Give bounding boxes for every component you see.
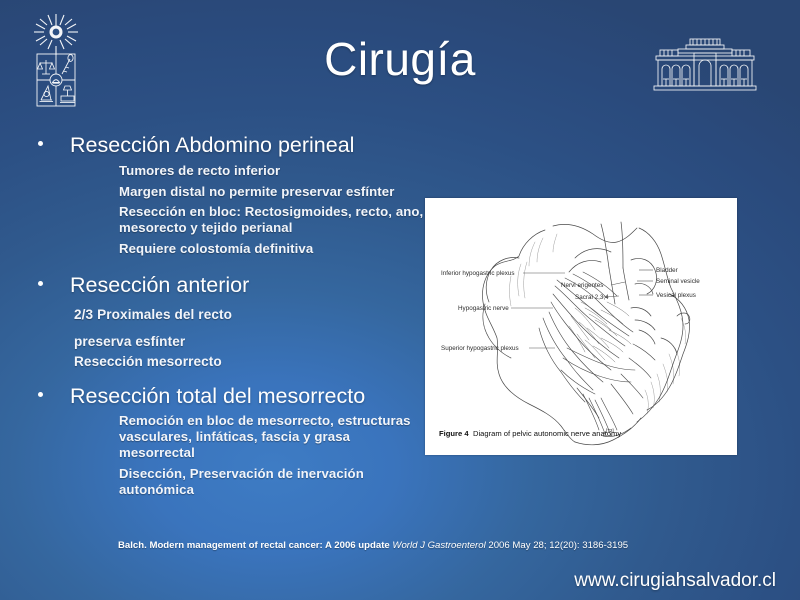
figure-caption-label: Figure 4 bbox=[439, 429, 469, 438]
citation: Balch. Modern management of rectal cance… bbox=[118, 540, 758, 552]
figure-caption-period: . bbox=[616, 429, 618, 438]
spacer bbox=[26, 375, 426, 384]
figure-caption-text: Diagram of pelvic autonomic nerve anatom… bbox=[473, 429, 621, 438]
citation-journal: World J Gastroenterol bbox=[392, 540, 485, 551]
bullet-level1: Resección anterior bbox=[26, 273, 426, 298]
bullet-dot-icon bbox=[38, 281, 43, 286]
sub-bullet-item: Requiere colostomía definitiva bbox=[119, 241, 426, 257]
figure-label-superior-hypogastric-plexus: Superior hypogastric plexus bbox=[441, 345, 519, 352]
citation-bold: Balch. Modern management of rectal cance… bbox=[118, 540, 390, 551]
hospital-del-salvador-logo-icon bbox=[650, 36, 760, 98]
bullet-level1-label: Resección total del mesorrecto bbox=[70, 384, 365, 408]
spacer bbox=[26, 262, 426, 273]
pelvic-nerve-anatomy-figure: Inferior hypogastric plexus Hypogastric … bbox=[425, 198, 737, 455]
site-url[interactable]: www.cirugiahsalvador.cl bbox=[574, 570, 776, 592]
bullet-dot-icon bbox=[38, 392, 43, 397]
bullet-group-2: Resección anterior 2/3 Proximales del re… bbox=[26, 273, 426, 371]
slide-canvas: Cirugía bbox=[0, 0, 800, 600]
bullet-dot-icon bbox=[38, 141, 43, 146]
bullet-group-1: Resección Abdomino perineal Tumores de r… bbox=[26, 133, 426, 257]
sub-bullet-item: 2/3 Proximales del recto bbox=[74, 307, 426, 323]
bullet-level1: Resección total del mesorrecto bbox=[26, 384, 426, 409]
sub-bullet-item: Disección, Preservación de inervación au… bbox=[119, 466, 426, 498]
sub-bullet-item: preserva esfínter bbox=[74, 334, 426, 350]
figure-label-sacral-234: Sacral 2,3,4 bbox=[575, 294, 609, 301]
bullet-level1: Resección Abdomino perineal bbox=[26, 133, 426, 158]
bullet-level1-label: Resección anterior bbox=[70, 273, 249, 297]
slide-body-content: Resección Abdomino perineal Tumores de r… bbox=[26, 133, 426, 503]
bullet-group-3: Resección total del mesorrecto Remoción … bbox=[26, 384, 426, 498]
sub-bullet-list: 2/3 Proximales del recto preserva esfínt… bbox=[26, 298, 426, 371]
sub-bullet-list: Tumores de recto inferior Margen distal … bbox=[26, 158, 426, 257]
figure-label-vesical-plexus: Vesical plexus bbox=[656, 292, 696, 299]
figure-label-seminal-vesicle: Seminal vesicle bbox=[656, 278, 700, 285]
sub-bullet-item: Remoción en bloc de mesorrecto, estructu… bbox=[119, 413, 426, 461]
sub-bullet-list: Remoción en bloc de mesorrecto, estructu… bbox=[26, 408, 426, 497]
sub-bullet-item: Resección en bloc: Rectosigmoides, recto… bbox=[119, 204, 426, 236]
figure-label-nervi-erigentes: Nervi erigentes bbox=[561, 282, 603, 289]
figure-label-bladder: Bladder bbox=[656, 267, 678, 274]
citation-details: 2006 May 28; 12(20): 3186-3195 bbox=[488, 540, 628, 551]
sub-bullet-item: Tumores de recto inferior bbox=[119, 163, 426, 179]
figure-label-hypogastric-nerve: Hypogastric nerve bbox=[458, 305, 509, 312]
figure-label-inferior-hypogastric-plexus: Inferior hypogastric plexus bbox=[441, 270, 515, 277]
figure-caption-ref: [72] bbox=[606, 428, 614, 433]
sub-bullet-item: Margen distal no permite preservar esfín… bbox=[119, 184, 426, 200]
bullet-level1-label: Resección Abdomino perineal bbox=[70, 133, 354, 157]
sub-bullet-item: Resección mesorrecto bbox=[74, 354, 426, 370]
